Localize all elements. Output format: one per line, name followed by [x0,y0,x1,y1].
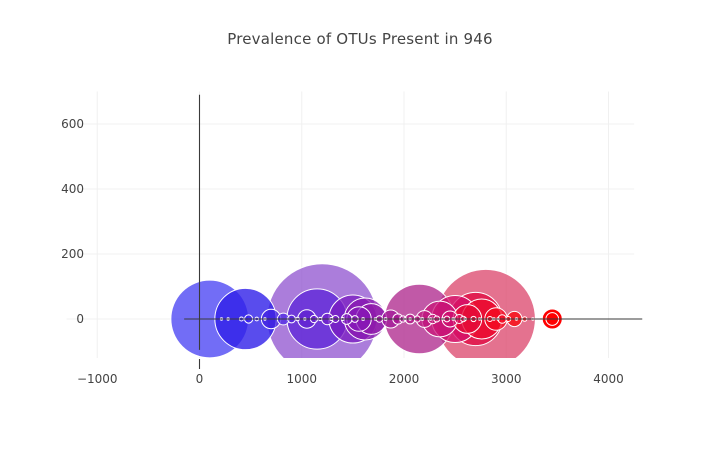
x-tick-label: 3000 [491,372,522,386]
y-tick-label: 400 [61,182,84,196]
y-tick-label: 200 [61,247,84,261]
x-tick-label: 1000 [286,372,317,386]
chart-canvas: Prevalence of OTUs Present in 946 020040… [0,0,720,450]
x-tick-label: 2000 [389,372,420,386]
x-tick-label: 0 [196,372,204,386]
x-tick-label: 4000 [593,372,624,386]
bubble-chart-plot: 0200400600−100001000200030004000 [0,0,720,450]
x-tick-label: −1000 [77,372,118,386]
y-tick-label: 600 [61,117,84,131]
y-tick-label: 0 [76,312,84,326]
